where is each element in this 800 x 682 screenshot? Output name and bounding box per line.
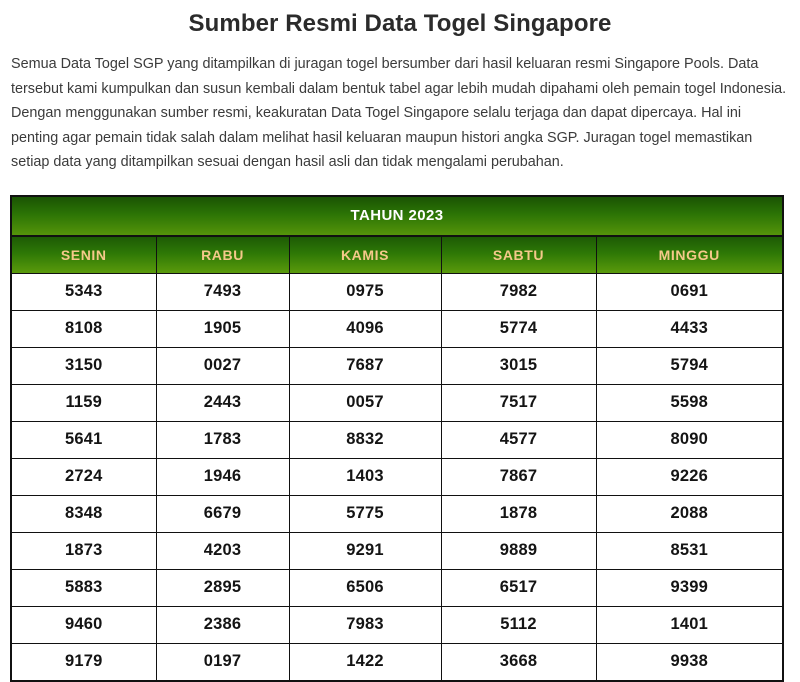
result-cell: 9179 [11, 643, 156, 681]
result-cell: 0027 [156, 347, 289, 384]
result-cell: 1422 [289, 643, 441, 681]
page-root: Sumber Resmi Data Togel Singapore Semua … [0, 0, 800, 682]
result-cell: 0057 [289, 384, 441, 421]
result-cell: 7982 [441, 273, 596, 310]
result-cell: 7983 [289, 606, 441, 643]
result-cell: 4096 [289, 310, 441, 347]
result-cell: 1946 [156, 458, 289, 495]
result-cell: 4577 [441, 421, 596, 458]
result-cell: 8832 [289, 421, 441, 458]
table-row: 81081905409657744433 [11, 310, 783, 347]
column-header-minggu[interactable]: MINGGU [596, 236, 783, 274]
column-header-sabtu[interactable]: SABTU [441, 236, 596, 274]
result-cell: 0197 [156, 643, 289, 681]
result-cell: 8090 [596, 421, 783, 458]
result-cell: 7867 [441, 458, 596, 495]
intro-paragraph: Semua Data Togel SGP yang ditampilkan di… [0, 39, 800, 175]
result-cell: 2088 [596, 495, 783, 532]
result-cell: 1783 [156, 421, 289, 458]
result-cell: 3015 [441, 347, 596, 384]
data-table-container: TAHUN 2023 SENIN RABU KAMIS SABTU MINGGU… [0, 175, 800, 682]
result-cell: 0691 [596, 273, 783, 310]
result-cell: 9460 [11, 606, 156, 643]
result-cell: 9399 [596, 569, 783, 606]
table-year-banner-row: TAHUN 2023 [11, 196, 783, 236]
result-cell: 0975 [289, 273, 441, 310]
result-cell: 5775 [289, 495, 441, 532]
result-cell: 7517 [441, 384, 596, 421]
result-cell: 3668 [441, 643, 596, 681]
result-cell: 1905 [156, 310, 289, 347]
table-row: 91790197142236689938 [11, 643, 783, 681]
result-cell: 2895 [156, 569, 289, 606]
result-cell: 1401 [596, 606, 783, 643]
result-cell: 5112 [441, 606, 596, 643]
column-header-senin[interactable]: SENIN [11, 236, 156, 274]
result-cell: 1873 [11, 532, 156, 569]
result-cell: 9291 [289, 532, 441, 569]
column-header-kamis[interactable]: KAMIS [289, 236, 441, 274]
result-cell: 5774 [441, 310, 596, 347]
table-row: 94602386798351121401 [11, 606, 783, 643]
togel-results-table: TAHUN 2023 SENIN RABU KAMIS SABTU MINGGU… [10, 195, 784, 682]
result-cell: 4203 [156, 532, 289, 569]
table-year-banner: TAHUN 2023 [11, 196, 783, 236]
result-cell: 5641 [11, 421, 156, 458]
result-cell: 5343 [11, 273, 156, 310]
result-cell: 1878 [441, 495, 596, 532]
result-cell: 4433 [596, 310, 783, 347]
result-cell: 2443 [156, 384, 289, 421]
result-cell: 9938 [596, 643, 783, 681]
result-cell: 1159 [11, 384, 156, 421]
result-cell: 8531 [596, 532, 783, 569]
column-header-rabu[interactable]: RABU [156, 236, 289, 274]
result-cell: 5794 [596, 347, 783, 384]
result-cell: 9889 [441, 532, 596, 569]
table-row: 31500027768730155794 [11, 347, 783, 384]
result-cell: 5883 [11, 569, 156, 606]
result-cell: 2386 [156, 606, 289, 643]
table-row: 58832895650665179399 [11, 569, 783, 606]
table-row: 56411783883245778090 [11, 421, 783, 458]
table-row: 53437493097579820691 [11, 273, 783, 310]
result-cell: 5598 [596, 384, 783, 421]
result-cell: 9226 [596, 458, 783, 495]
result-cell: 8108 [11, 310, 156, 347]
table-row: 83486679577518782088 [11, 495, 783, 532]
table-column-header-row: SENIN RABU KAMIS SABTU MINGGU [11, 236, 783, 274]
page-title: Sumber Resmi Data Togel Singapore [0, 0, 800, 39]
table-row: 27241946140378679226 [11, 458, 783, 495]
result-cell: 6506 [289, 569, 441, 606]
result-cell: 6679 [156, 495, 289, 532]
result-cell: 2724 [11, 458, 156, 495]
table-body: 5343749309757982069181081905409657744433… [11, 273, 783, 681]
result-cell: 1403 [289, 458, 441, 495]
result-cell: 7493 [156, 273, 289, 310]
table-head: TAHUN 2023 SENIN RABU KAMIS SABTU MINGGU [11, 196, 783, 274]
table-row: 18734203929198898531 [11, 532, 783, 569]
result-cell: 7687 [289, 347, 441, 384]
result-cell: 8348 [11, 495, 156, 532]
table-row: 11592443005775175598 [11, 384, 783, 421]
result-cell: 3150 [11, 347, 156, 384]
result-cell: 6517 [441, 569, 596, 606]
